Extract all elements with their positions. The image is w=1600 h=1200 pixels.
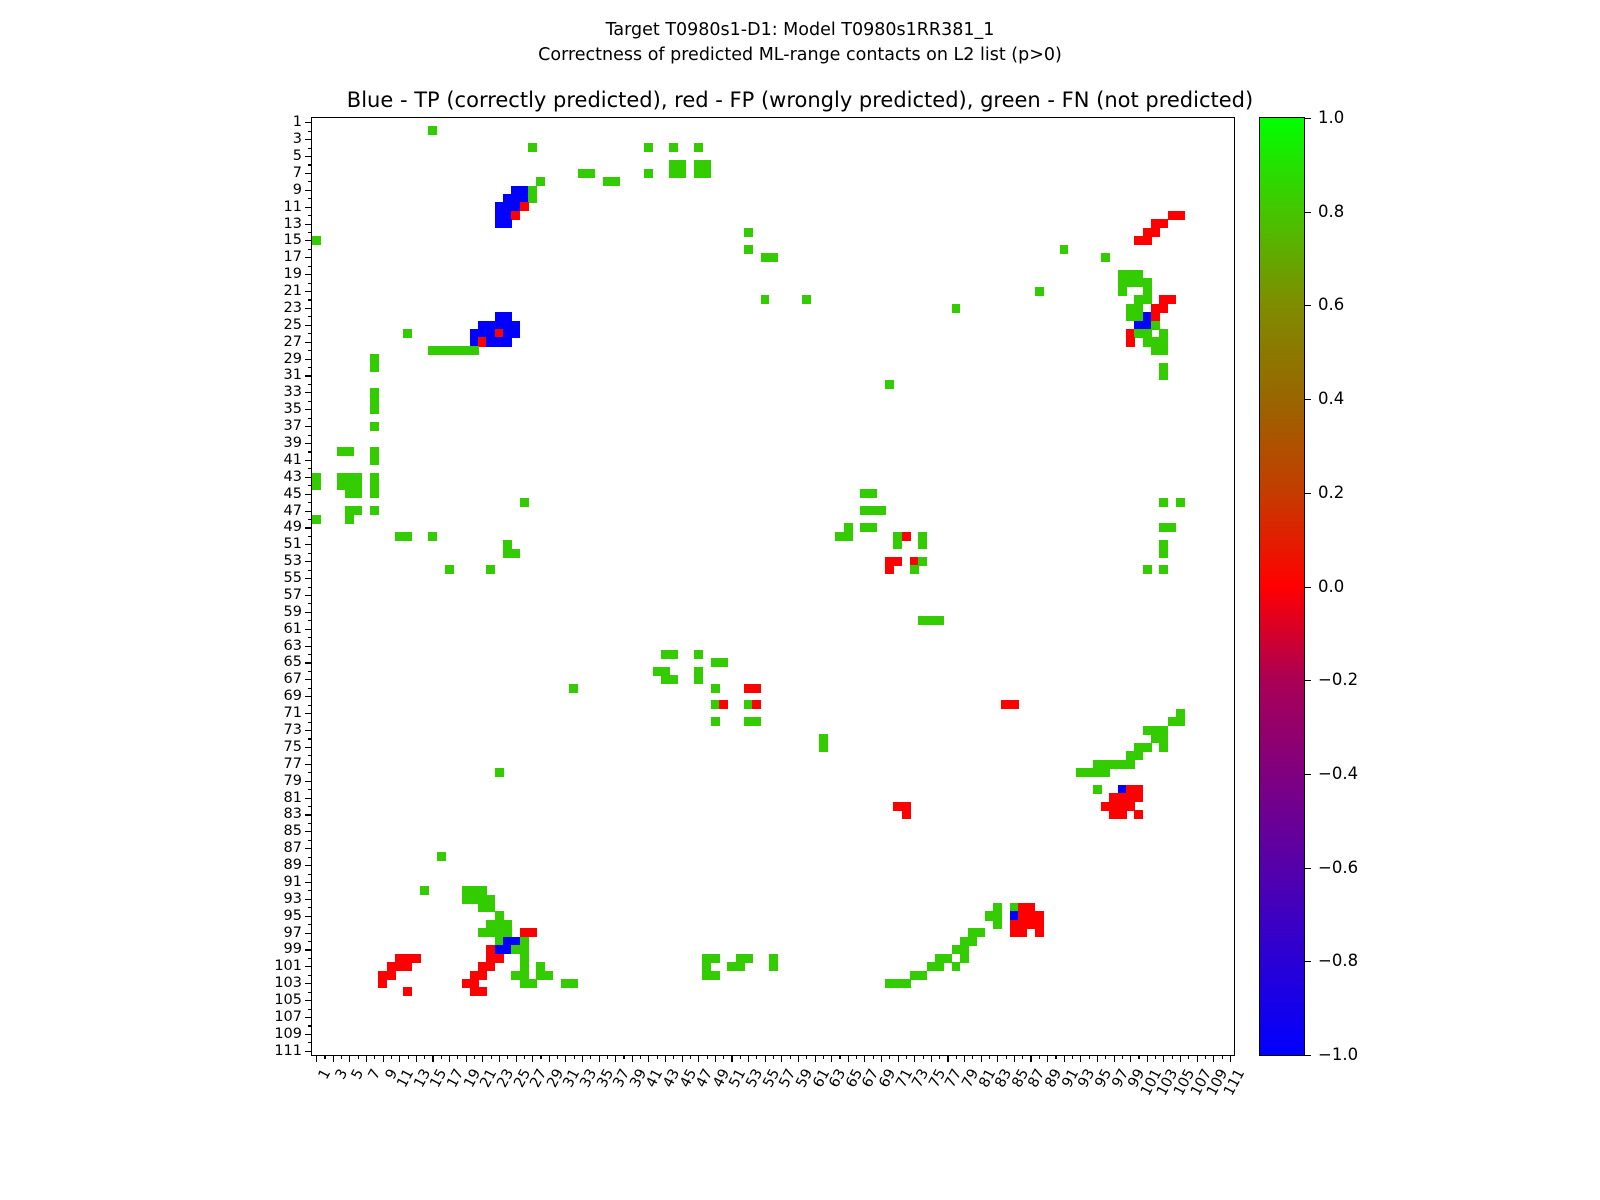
contact-cell [869,489,878,498]
colorbar-tick-label: 0.2 [1318,485,1344,502]
colorbar-tick [1304,961,1311,962]
contact-cell [1159,565,1168,574]
y-tick [308,874,312,875]
colorbar-tick [1304,493,1311,494]
y-tick-label: 29 [284,351,302,366]
x-tick [1097,1055,1098,1062]
y-tick [305,494,312,495]
colorbar-tick [1304,680,1311,681]
contact-cell [669,143,678,152]
contact-cell [1134,810,1143,819]
y-tick [308,907,312,908]
y-tick-label: 47 [284,503,302,518]
y-tick [308,620,312,621]
contact-cell [669,675,678,684]
contact-cell [1101,253,1110,262]
x-tick [557,1055,558,1059]
x-tick [366,1055,367,1062]
contact-cell [893,557,902,566]
contact-cell [918,557,927,566]
contact-cell [918,540,927,549]
contact-cell [312,236,321,245]
contact-cell [528,194,537,203]
y-tick [308,806,312,807]
contact-cell [1101,768,1110,777]
x-tick [640,1055,641,1059]
y-tick [305,426,312,427]
x-tick [806,1055,807,1059]
figure-canvas: Target T0980s1-D1: Model T0980s1RR381_1 … [0,0,1600,1200]
x-tick [1022,1055,1023,1059]
y-tick [305,443,312,444]
colorbar-tick-label: −0.8 [1318,953,1358,970]
contact-cell [503,337,512,346]
colorbar-tick-label: 0.8 [1318,203,1344,220]
y-tick [305,662,312,663]
x-tick [491,1055,492,1059]
contact-cell [478,971,487,980]
y-tick-label: 85 [284,824,302,839]
x-tick [964,1055,965,1062]
y-tick [308,857,312,858]
x-tick [582,1055,583,1062]
y-tick-label: 49 [284,520,302,535]
y-tick-label: 51 [284,537,302,552]
contact-cell [528,143,537,152]
x-tick [1039,1055,1040,1059]
x-tick [740,1055,741,1059]
x-tick [856,1055,857,1059]
contact-cell [1159,371,1168,380]
y-tick-label: 21 [284,284,302,299]
x-tick [956,1055,957,1059]
contact-cell [420,886,429,895]
y-tick-label: 5 [293,149,302,164]
y-tick [308,367,312,368]
contact-cell [403,962,412,971]
y-tick-label: 65 [284,655,302,670]
x-tick [358,1055,359,1059]
y-tick-label: 57 [284,588,302,603]
figure-suptitle: Target T0980s1-D1: Model T0980s1RR381_1 … [0,18,1600,68]
y-tick-label: 27 [284,334,302,349]
contact-cell [412,954,421,963]
contact-cell [1035,287,1044,296]
y-tick [308,924,312,925]
contact-cell [752,684,761,693]
contact-cell [354,489,363,498]
y-tick [308,637,312,638]
y-tick-label: 97 [284,925,302,940]
y-tick [305,460,312,461]
suptitle-line-1: Target T0980s1-D1: Model T0980s1RR381_1 [0,18,1600,43]
contact-cell [761,295,770,304]
contact-cell [1093,785,1102,794]
contact-cell [345,515,354,524]
y-tick [308,1042,312,1043]
contact-cell [1118,810,1127,819]
y-tick-label: 25 [284,318,302,333]
y-tick [305,359,312,360]
contact-cell [511,549,520,558]
y-tick [305,730,312,731]
y-tick-label: 69 [284,689,302,704]
x-tick [1130,1055,1131,1062]
colorbar-tick [1304,1055,1311,1056]
y-tick [305,1017,312,1018]
x-tick [449,1055,450,1062]
colorbar-tick [1304,587,1311,588]
y-tick [305,1000,312,1001]
y-tick [308,418,312,419]
x-tick [524,1055,525,1059]
x-tick [781,1055,782,1062]
x-tick [939,1055,940,1059]
contact-cell [1010,700,1019,709]
contact-cell [1159,498,1168,507]
x-tick [1188,1055,1189,1059]
contact-cell [428,126,437,135]
x-tick [516,1055,517,1062]
contact-map-axes[interactable]: 1133557799111113131515171719192121232325… [311,117,1235,1056]
y-tick-label: 83 [284,807,302,822]
contact-cell [736,962,745,971]
y-tick [308,738,312,739]
x-tick [673,1055,674,1059]
colorbar-tick-label: −0.6 [1318,859,1358,876]
x-tick [765,1055,766,1062]
x-tick [507,1055,508,1059]
y-tick [305,392,312,393]
x-tick [1180,1055,1181,1062]
y-tick-label: 75 [284,740,302,755]
colorbar[interactable]: 1.00.80.60.40.20.0−0.2−0.4−0.6−0.8−1.0 [1259,117,1305,1056]
contact-cell [536,177,545,186]
y-tick [308,1025,312,1026]
x-tick [1089,1055,1090,1059]
y-tick [305,224,312,225]
y-tick [305,122,312,123]
x-tick [947,1055,948,1062]
y-tick-label: 53 [284,554,302,569]
x-tick [1105,1055,1106,1059]
y-tick [308,502,312,503]
y-tick-label: 55 [284,571,302,586]
contact-cell [744,245,753,254]
y-tick [308,384,312,385]
y-tick-label: 71 [284,706,302,721]
contact-cell [1176,709,1185,718]
x-tick [873,1055,874,1059]
x-tick [532,1055,533,1062]
contact-cell [345,447,354,456]
contact-cell [1143,236,1152,245]
x-tick [1047,1055,1048,1062]
y-tick [305,899,312,900]
y-tick [305,713,312,714]
y-tick [305,865,312,866]
x-tick [690,1055,691,1059]
y-tick-label: 99 [284,942,302,957]
y-tick [305,848,312,849]
y-tick [305,375,312,376]
contact-cell [370,456,379,465]
contact-cell [486,962,495,971]
y-tick-label: 1 [293,115,302,130]
y-tick-label: 61 [284,621,302,636]
x-tick [723,1055,724,1059]
contact-cell [677,169,686,178]
contact-cell [486,565,495,574]
contact-cell [918,971,927,980]
contact-cell [885,565,894,574]
y-tick [308,570,312,571]
x-tick [1222,1055,1223,1059]
y-tick [308,519,312,520]
x-tick [682,1055,683,1062]
x-tick [623,1055,624,1059]
x-tick [349,1055,350,1062]
x-tick [432,1055,433,1062]
y-tick [305,933,312,934]
y-tick [305,207,312,208]
contact-cell [711,684,720,693]
y-tick [308,316,312,317]
x-tick [341,1055,342,1059]
contact-cell [370,422,379,431]
y-tick [308,688,312,689]
contact-cell [1176,498,1185,507]
contact-cell [1101,760,1110,769]
x-tick [1163,1055,1164,1062]
contact-cell [495,911,504,920]
y-tick [308,890,312,891]
contact-cell [952,304,961,313]
x-tick [798,1055,799,1062]
y-tick-label: 89 [284,858,302,873]
contact-cell [470,346,479,355]
y-tick [308,958,312,959]
y-tick [305,291,312,292]
contact-cell [586,169,595,178]
y-tick [308,553,312,554]
contact-cell [1168,295,1177,304]
suptitle-line-2: Correctness of predicted ML-range contac… [0,43,1600,68]
y-tick [305,139,312,140]
contact-cell [644,169,653,178]
colorbar-tick-label: 0.6 [1318,297,1344,314]
y-tick [305,308,312,309]
y-tick-label: 111 [274,1044,302,1059]
x-tick [889,1055,890,1059]
contact-cell [1126,760,1135,769]
contact-cell [885,380,894,389]
y-tick [308,536,312,537]
y-tick-label: 79 [284,773,302,788]
y-tick [305,983,312,984]
contact-cell [503,219,512,228]
y-tick-label: 59 [284,605,302,620]
y-tick [308,401,312,402]
y-tick [305,325,312,326]
y-tick [308,1009,312,1010]
contact-cell [952,962,961,971]
y-tick-label: 77 [284,757,302,772]
y-tick-label: 93 [284,892,302,907]
x-tick [1055,1055,1056,1059]
colorbar-tick [1304,868,1311,869]
contact-cell [669,650,678,659]
y-tick-label: 35 [284,402,302,417]
x-tick [499,1055,500,1062]
contact-cell [694,143,703,152]
contact-cell [1018,928,1027,937]
y-tick-label: 107 [274,1010,302,1025]
contact-cell [370,363,379,372]
x-tick [848,1055,849,1062]
contact-cell [744,228,753,237]
contact-cell [1143,743,1152,752]
contact-cell [520,202,529,211]
x-tick [324,1055,325,1059]
contact-cell [1159,219,1168,228]
y-tick-label: 105 [274,993,302,1008]
y-tick [308,485,312,486]
contact-cell [968,937,977,946]
x-tick [831,1055,832,1062]
contact-cell [1159,743,1168,752]
y-tick-label: 37 [284,419,302,434]
y-tick [305,173,312,174]
y-tick [305,511,312,512]
x-tick [1172,1055,1173,1059]
x-tick [466,1055,467,1062]
contact-cell [902,810,911,819]
y-tick [305,764,312,765]
y-tick [308,671,312,672]
y-tick [305,257,312,258]
y-tick-label: 91 [284,875,302,890]
y-tick-label: 3 [293,132,302,147]
y-tick [305,882,312,883]
y-tick [305,831,312,832]
x-tick [1114,1055,1115,1062]
x-tick [441,1055,442,1059]
x-tick [374,1055,375,1059]
x-tick [474,1055,475,1059]
y-tick-label: 81 [284,790,302,805]
y-tick [305,612,312,613]
x-tick [1147,1055,1148,1062]
contact-cell [1151,228,1160,237]
x-tick [599,1055,600,1062]
y-tick [308,350,312,351]
contact-cell [312,515,321,524]
axes-title-legend: Blue - TP (correctly predicted), red - F… [0,88,1600,112]
y-tick-label: 31 [284,368,302,383]
x-tick [997,1055,998,1062]
y-tick [305,966,312,967]
y-tick-label: 63 [284,638,302,653]
y-tick [308,232,312,233]
contact-cell [545,971,554,980]
x-tick [565,1055,566,1062]
colorbar-tick-label: −0.2 [1318,672,1358,689]
x-tick [590,1055,591,1059]
y-tick-label: 11 [284,199,302,214]
x-tick [665,1055,666,1062]
y-tick-label: 87 [284,841,302,856]
x-tick-label: 1 [317,1067,334,1082]
colorbar-tick-label: −1.0 [1318,1047,1358,1064]
x-tick [914,1055,915,1062]
y-tick [305,916,312,917]
colorbar-tick-label: −0.4 [1318,766,1358,783]
contact-cell [387,971,396,980]
contact-cell [1126,337,1135,346]
x-tick [698,1055,699,1062]
x-tick [482,1055,483,1062]
y-tick [308,266,312,267]
contact-cell [403,532,412,541]
y-tick-label: 95 [284,908,302,923]
contact-cell [694,675,703,684]
contact-cell [445,565,454,574]
colorbar-tick-label: 0.0 [1318,578,1344,595]
contact-cell [1159,304,1168,313]
y-tick [305,646,312,647]
contact-cell [1176,717,1185,726]
x-tick [756,1055,757,1059]
y-tick [308,283,312,284]
x-tick [1014,1055,1015,1062]
contact-cell [511,211,520,220]
contact-cell [378,979,387,988]
x-tick [316,1055,317,1062]
contact-cell [528,979,537,988]
contact-cell [769,962,778,971]
x-tick [1213,1055,1214,1062]
x-tick [383,1055,384,1062]
x-tick [457,1055,458,1059]
y-tick-label: 109 [274,1027,302,1042]
y-tick [308,215,312,216]
y-tick [305,629,312,630]
contact-cell [993,903,1002,912]
contact-cell [702,169,711,178]
x-tick [790,1055,791,1059]
x-tick [1138,1055,1139,1059]
y-tick [305,561,312,562]
y-tick [305,477,312,478]
y-tick [305,747,312,748]
contact-cell [1134,743,1143,752]
y-tick [305,679,312,680]
y-tick [305,814,312,815]
x-tick [540,1055,541,1059]
contact-cell [844,532,853,541]
contact-cell [569,979,578,988]
contact-map-cells [312,118,1234,1055]
contact-cell [478,987,487,996]
x-tick [1080,1055,1081,1062]
contact-cell [910,565,919,574]
y-tick-label: 73 [284,723,302,738]
contact-cell [370,506,379,515]
contact-cell [977,928,986,937]
colorbar-tick-label: 0.4 [1318,391,1344,408]
x-tick [1064,1055,1065,1062]
